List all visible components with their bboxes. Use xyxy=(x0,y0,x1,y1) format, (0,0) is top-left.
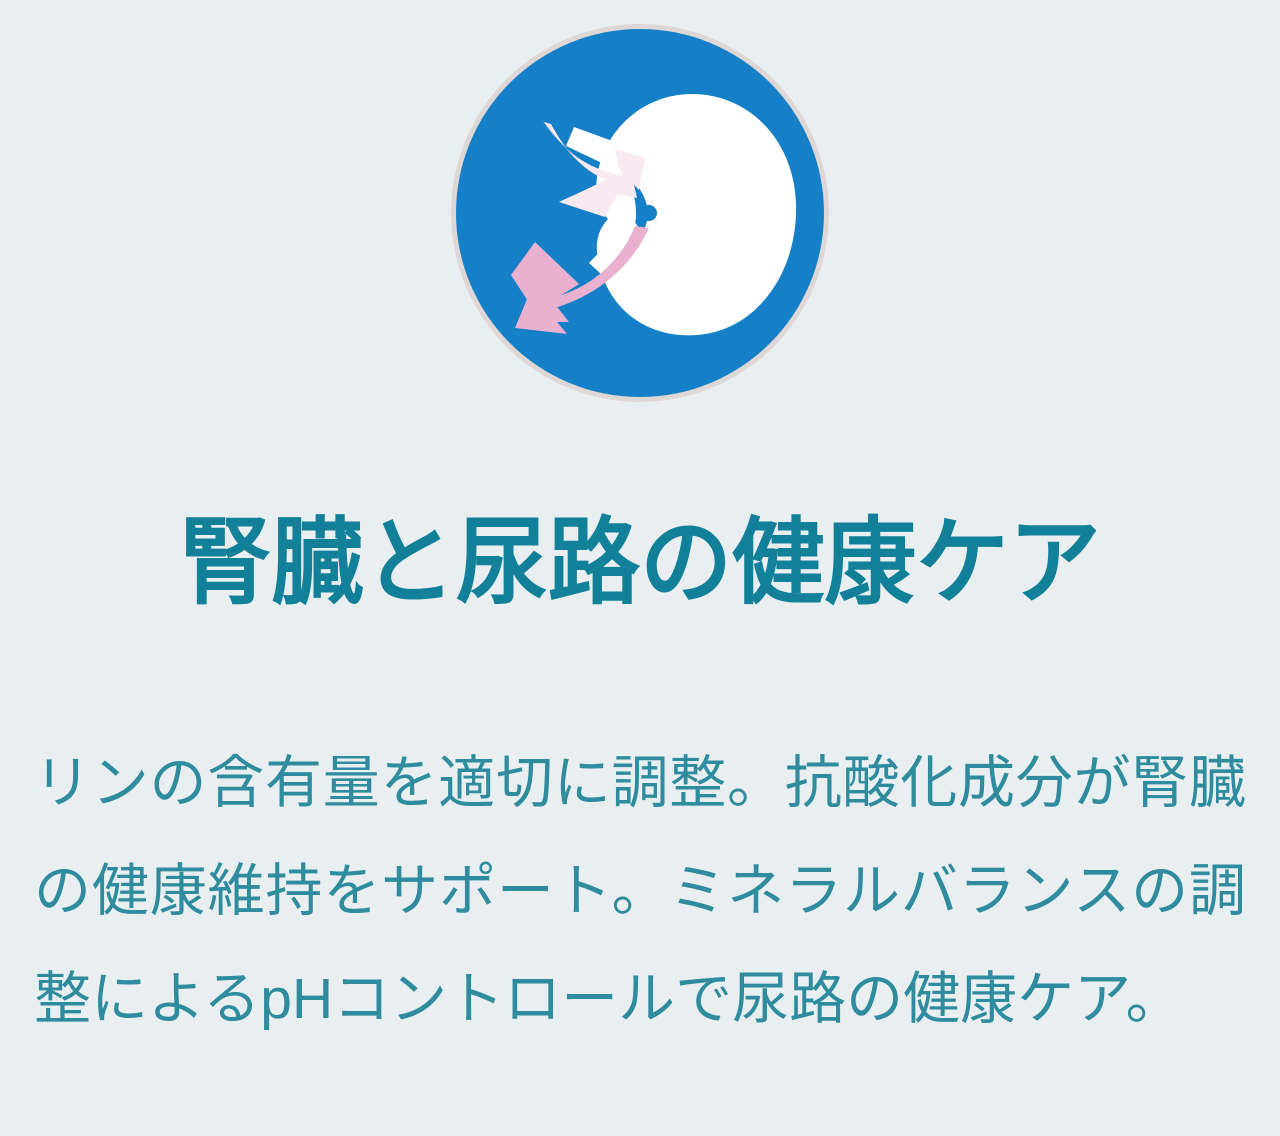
page-title: 腎臓と尿路の健康ケア xyxy=(179,516,1101,611)
kidney-care-feature-card: 腎臓と尿路の健康ケア リンの含有量を適切に調整。抗酸化成分が腎臓の健康維持をサポ… xyxy=(0,0,1280,1136)
kidney-urinary-care-icon xyxy=(449,22,831,404)
feature-description: リンの含有量を適切に調整。抗酸化成分が腎臓の健康維持をサポート。ミネラルバランス… xyxy=(34,729,1246,1053)
